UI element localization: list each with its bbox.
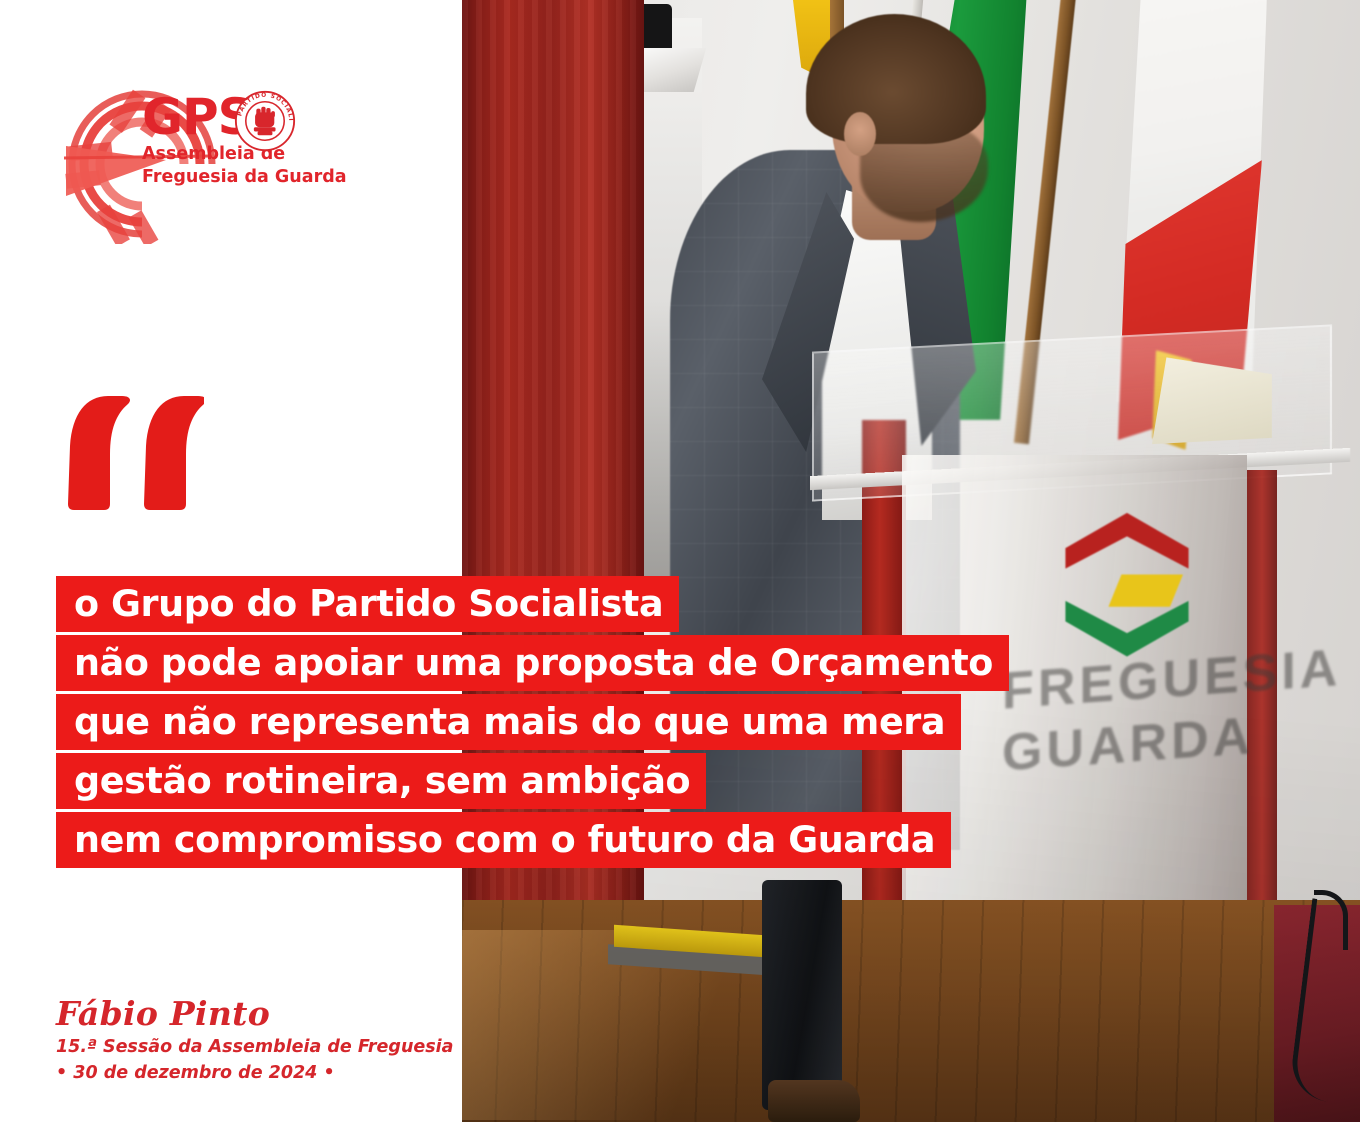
opening-quote-mark-icon (64, 392, 204, 512)
session-date: • 30 de dezembro de 2024 • (56, 1060, 454, 1086)
quote-line: que não representa mais do que uma mera (56, 694, 961, 750)
attribution-block: Fábio Pinto 15.ª Sessão da Assembleia de… (56, 994, 454, 1086)
speaker-name: Fábio Pinto (56, 994, 454, 1034)
event-photo: FREGUESIA GUARDA (462, 0, 1360, 1122)
speaker-shoe (768, 1080, 860, 1122)
quote-card: FREGUESIA GUARDA (0, 0, 1360, 1122)
gps-logo: GPS Assembleia de Freguesia da Guarda PA… (62, 84, 312, 254)
speaker-leg (762, 880, 842, 1110)
gps-subtitle-line2: Freguesia da Guarda (142, 167, 317, 188)
partido-socialista-seal-icon: PARTIDO SOCIALISTA (234, 90, 296, 152)
quote-line: o Grupo do Partido Socialista (56, 576, 679, 632)
session-label: 15.ª Sessão da Assembleia de Freguesia (56, 1034, 454, 1060)
left-content-panel: GPS Assembleia de Freguesia da Guarda PA… (0, 0, 462, 1122)
quote-line: nem compromisso com o futuro da Guarda (56, 812, 951, 868)
quote-text-block: o Grupo do Partido Socialista não pode a… (56, 576, 1256, 871)
quote-line: não pode apoiar uma proposta de Orçament… (56, 635, 1009, 691)
speaker-ear (844, 112, 876, 156)
quote-line: gestão rotineira, sem ambição (56, 753, 706, 809)
